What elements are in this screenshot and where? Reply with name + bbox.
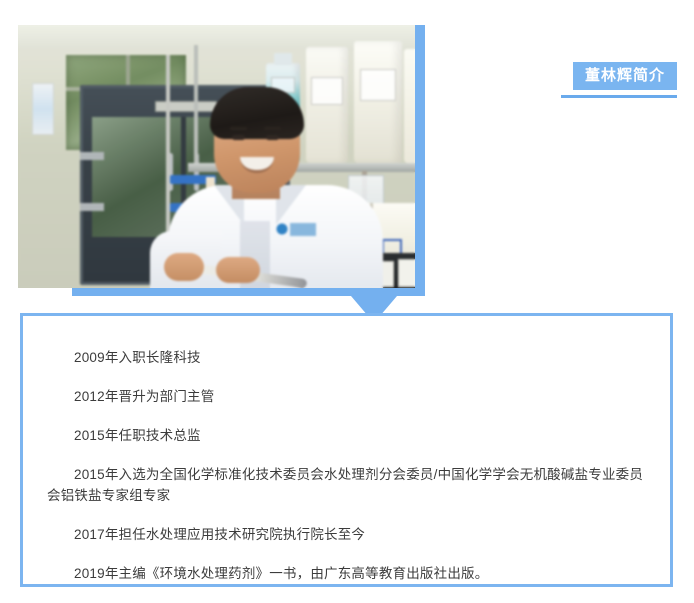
profile-photo: [18, 25, 415, 288]
section-title-badge: 董林辉简介: [573, 62, 677, 90]
biography-box: 2009年入职长隆科技 2012年晋升为部门主管 2015年任职技术总监 201…: [20, 313, 673, 587]
biography-entry: 2019年主编《环境水处理药剂》一书，由广东高等教育出版社出版。: [47, 563, 646, 585]
biography-entry: 2017年担任水处理应用技术研究院执行院长至今: [47, 524, 646, 546]
section-title-underline: [561, 95, 677, 98]
section-title: 董林辉简介: [561, 62, 677, 98]
biography-entry: 2015年任职技术总监: [47, 425, 646, 447]
photo-accent-bar-right: [415, 25, 425, 288]
biography-entry: 2009年入职长隆科技: [47, 347, 646, 369]
biography-entry-list: 2009年入职长隆科技 2012年晋升为部门主管 2015年任职技术总监 201…: [23, 316, 670, 585]
profile-photo-card: [18, 25, 425, 295]
photo-accent-bar-bottom: [72, 288, 425, 296]
biography-entry: 2012年晋升为部门主管: [47, 386, 646, 408]
biography-entry: 2015年入选为全国化学标准化技术委员会水处理剂分会委员/中国化学学会无机酸碱盐…: [47, 464, 646, 508]
photo-soft-focus-overlay: [18, 25, 415, 288]
